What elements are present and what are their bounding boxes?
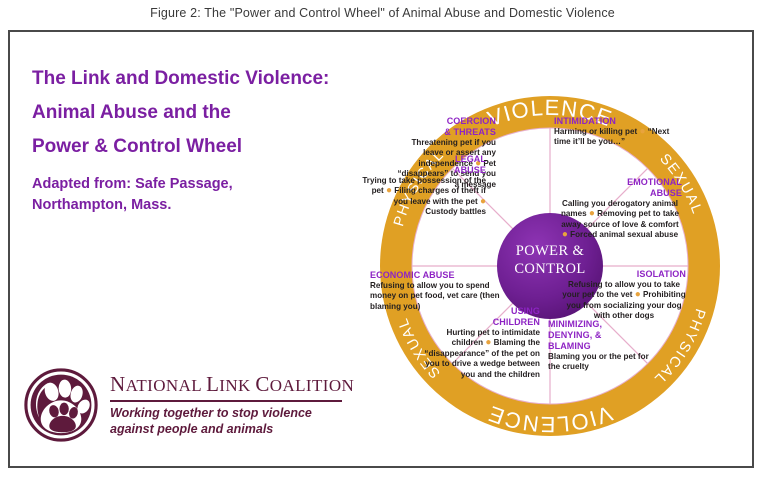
segment-intimidation: INTIMIDATION Harming or killing pet ● “N… xyxy=(554,116,674,148)
power-and-control-wheel: PHYSICAL VIOLENCE SEXUAL PHYSICAL VIOLEN… xyxy=(358,74,742,458)
segment-title: MINIMIZING, xyxy=(548,319,652,330)
figure-caption: Figure 2: The "Power and Control Wheel" … xyxy=(0,6,765,20)
segment-minimizing-denying-blaming: MINIMIZING, DENYING, & BLAMING Blaming y… xyxy=(548,319,652,373)
segment-title: ISOLATION xyxy=(562,269,686,280)
segment-title-2: CHILDREN xyxy=(418,317,540,328)
logo-tagline-1: Working together to stop violence xyxy=(110,406,354,422)
segment-isolation: ISOLATION Refusing to allow you to take … xyxy=(562,269,686,322)
headline-line-3: Power & Control Wheel xyxy=(32,130,332,164)
segment-title-2: & THREATS xyxy=(396,127,496,138)
organization-logo-block: NATIONAL LINK COALITION Working together… xyxy=(22,357,322,452)
segment-emotional-abuse: EMOTIONAL ABUSE Calling you derogatory a… xyxy=(558,177,682,241)
segment-title: COERCION xyxy=(396,116,496,127)
segment-title: LEGAL xyxy=(362,154,486,165)
segment-body: Blaming you or the pet for the cruelty xyxy=(548,352,652,373)
logo-tagline-2: against people and animals xyxy=(110,422,354,438)
logo-divider xyxy=(110,400,342,402)
segment-body: Refusing to allow you to take your pet t… xyxy=(562,280,686,322)
segment-body: Hurting pet to intimidate children ● Bla… xyxy=(418,328,540,380)
segment-title-2: DENYING, & xyxy=(548,330,652,341)
figure-frame: The Link and Domestic Violence: Animal A… xyxy=(8,30,754,468)
segment-title-2: ABUSE xyxy=(558,188,682,199)
segment-body: Trying to take possession of the pet ● F… xyxy=(362,176,486,218)
segment-title: ECONOMIC ABUSE xyxy=(370,270,500,281)
segment-title: INTIMIDATION xyxy=(554,116,674,127)
headline-block: The Link and Domestic Violence: Animal A… xyxy=(32,62,332,216)
segment-body: Refusing to allow you to spend money on … xyxy=(370,281,500,312)
logo-text-block: NATIONAL LINK COALITION Working together… xyxy=(110,372,354,437)
adapted-from-block: Adapted from: Safe Passage, Northampton,… xyxy=(32,174,332,216)
segment-using-children: USING CHILDREN Hurting pet to intimidate… xyxy=(418,306,540,380)
segment-economic-abuse: ECONOMIC ABUSE Refusing to allow you to … xyxy=(370,270,500,312)
headline-line-1: The Link and Domestic Violence: xyxy=(32,62,332,96)
segment-body: Calling you derogatory animal names ● Re… xyxy=(558,199,682,241)
segment-title-2: ABUSE xyxy=(362,165,486,176)
paw-print-icon xyxy=(22,366,100,444)
adapted-from-line-2: Northampton, Mass. xyxy=(32,195,332,216)
segment-body: Harming or killing pet ● “Next time it’l… xyxy=(554,127,674,148)
segment-title-3: BLAMING xyxy=(548,341,652,352)
segment-title: EMOTIONAL xyxy=(558,177,682,188)
organization-name: NATIONAL LINK COALITION xyxy=(110,372,354,397)
adapted-from-line-1: Adapted from: Safe Passage, xyxy=(32,174,332,195)
headline-line-2: Animal Abuse and the xyxy=(32,96,332,130)
segment-legal-abuse: LEGAL ABUSE Trying to take possession of… xyxy=(362,154,486,218)
